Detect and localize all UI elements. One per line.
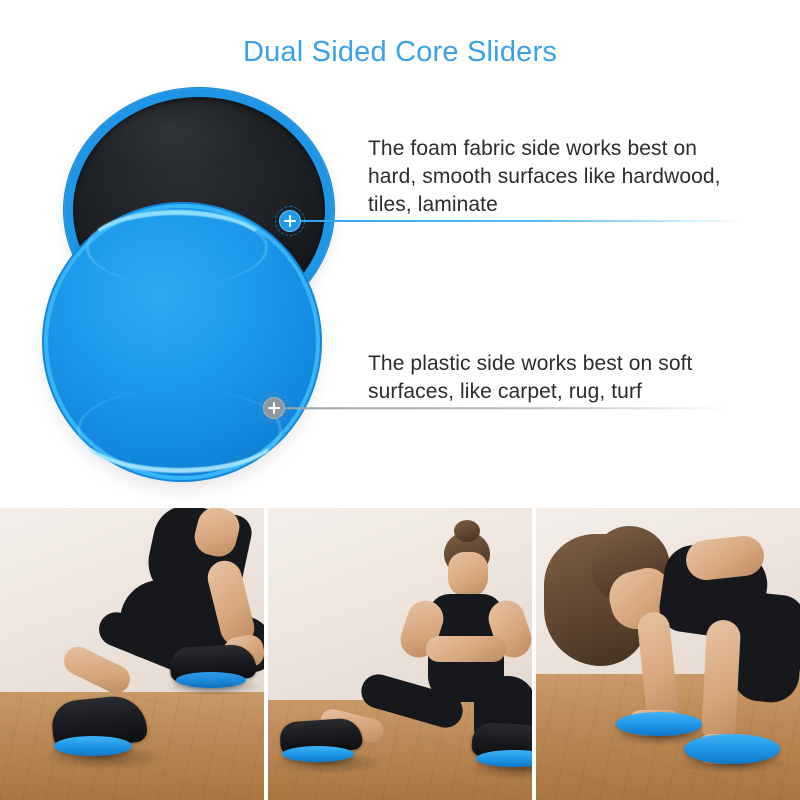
callout-leader-line: [285, 407, 733, 409]
plus-hotspot-icon[interactable]: [263, 397, 285, 419]
callout-foam-text: The foam fabric side works best on hard,…: [368, 135, 788, 219]
slider-pad: [616, 712, 702, 736]
hotspot-core: [263, 397, 285, 419]
hotspot-core: [279, 210, 301, 232]
callout-line: tiles, laminate: [368, 191, 788, 219]
callout-line: The plastic side works best on soft: [368, 350, 788, 378]
right-arm: [701, 619, 741, 745]
slider-pad: [684, 734, 780, 764]
plus-hotspot-icon[interactable]: [279, 210, 301, 232]
page-title: Dual Sided Core Sliders: [0, 36, 800, 69]
slider-pad: [176, 672, 246, 688]
callout-leader-line: [301, 220, 743, 222]
photo-strip: [0, 508, 800, 800]
plastic-disc: [48, 208, 316, 476]
head: [448, 552, 488, 598]
callout-plastic-text: The plastic side works best on soft surf…: [368, 350, 788, 406]
callout-line: The foam fabric side works best on: [368, 135, 788, 163]
callout-line: hard, smooth surfaces like hardwood,: [368, 163, 788, 191]
callout-line: surfaces, like carpet, rug, turf: [368, 378, 788, 406]
hips-leg: [731, 591, 800, 705]
slider-pad: [282, 746, 354, 762]
photo-plank-hands: [536, 508, 800, 800]
product-image: [40, 80, 370, 490]
hair-bun: [454, 520, 480, 542]
photo-lateral-lunge: [268, 508, 532, 800]
infographic-page: Dual Sided Core Sliders The foam fabric …: [0, 0, 800, 800]
slider-pad: [54, 736, 132, 756]
clasped-hands: [426, 636, 506, 662]
photo-lunge-slide: [0, 508, 264, 800]
